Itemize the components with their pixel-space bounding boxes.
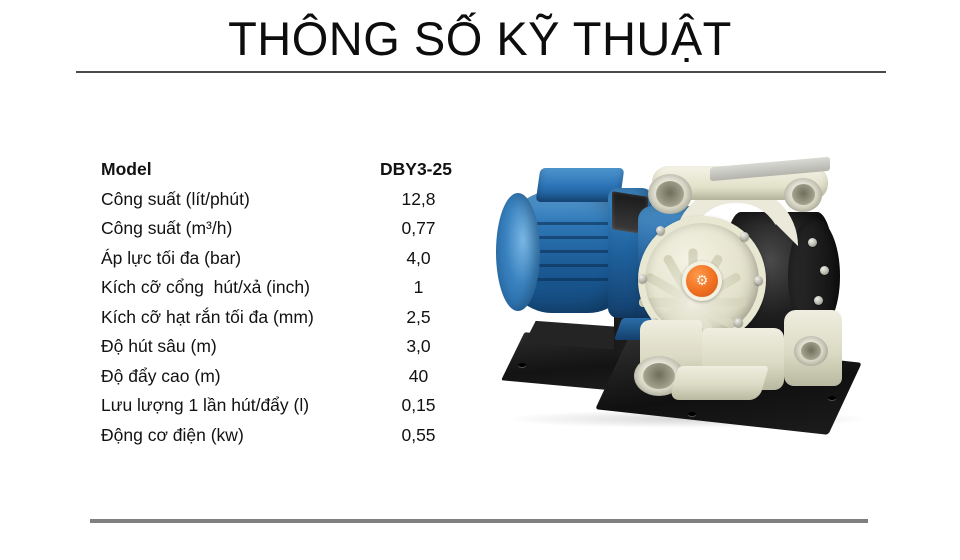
table-row: Lưu lượng 1 lần hút/đẩy (l) 0,15 — [101, 391, 461, 421]
spec-label: Công suất (lít/phút) — [101, 185, 376, 215]
spec-label: Độ hút sâu (m) — [101, 332, 376, 362]
title-divider — [76, 71, 886, 73]
spec-value: 3,0 — [376, 332, 461, 362]
brand-logo-icon: ⚙ — [690, 270, 714, 292]
bolt-hole — [828, 396, 836, 400]
hub-bolt — [740, 232, 749, 241]
table-row: Động cơ điện (kw) 0,55 — [101, 421, 461, 451]
pump-foot-pad — [669, 366, 769, 400]
discharge-port-bore — [656, 181, 684, 207]
hub-bolt — [638, 274, 647, 283]
table-row: Kích cỡ cổng hút/xả (inch) 1 — [101, 273, 461, 303]
spec-value: 12,8 — [376, 185, 461, 215]
table-header-row: Model DBY3-25 — [101, 155, 461, 185]
table-row: Độ hút sâu (m) 3,0 — [101, 332, 461, 362]
spec-label: Độ đẩy cao (m) — [101, 362, 376, 392]
suction-port-bore — [801, 342, 821, 360]
table-header-value: DBY3-25 — [376, 155, 465, 185]
motor-end-bell — [496, 193, 540, 311]
table-row: Áp lực tối đa (bar) 4,0 — [101, 244, 461, 274]
specifications-table: Model DBY3-25 Công suất (lít/phút) 12,8 … — [101, 155, 461, 450]
hub-bolt — [734, 318, 743, 327]
product-photo-diaphragm-pump: ⚙ — [488, 160, 898, 445]
footer-divider — [90, 519, 868, 523]
spec-value: 1 — [376, 273, 461, 303]
spec-label: Kích cỡ hạt rắn tối đa (mm) — [101, 303, 376, 333]
spec-value: 0,15 — [376, 391, 461, 421]
spec-value: 40 — [376, 362, 461, 392]
hub-bolt — [754, 276, 763, 285]
bolt-hole — [518, 363, 526, 367]
table-header-label: Model — [101, 155, 376, 185]
table-row: Độ đẩy cao (m) 40 — [101, 362, 461, 392]
spec-value: 4,0 — [376, 244, 461, 274]
spec-value: 2,5 — [376, 303, 461, 333]
spec-label: Lưu lượng 1 lần hút/đẩy (l) — [101, 391, 376, 421]
spec-value: 0,55 — [376, 421, 461, 451]
table-row: Công suất (m³/h) 0,77 — [101, 214, 461, 244]
bolt-hole — [688, 412, 696, 416]
flange-bolt — [820, 266, 829, 275]
spec-label: Động cơ điện (kw) — [101, 421, 376, 451]
hub-bolt — [656, 226, 665, 235]
spec-label: Áp lực tối đa (bar) — [101, 244, 376, 274]
spec-label: Kích cỡ cổng hút/xả (inch) — [101, 273, 376, 303]
page-title: THÔNG SỐ KỸ THUẬT — [0, 14, 960, 63]
table-row: Kích cỡ hạt rắn tối đa (mm) 2,5 — [101, 303, 461, 333]
flange-bolt — [808, 238, 817, 247]
table-row: Công suất (lít/phút) 12,8 — [101, 185, 461, 215]
flange-bolt — [814, 296, 823, 305]
discharge-port-bore — [792, 184, 815, 205]
spec-label: Công suất (m³/h) — [101, 214, 376, 244]
spec-value: 0,77 — [376, 214, 461, 244]
suction-port-bore — [643, 363, 675, 389]
